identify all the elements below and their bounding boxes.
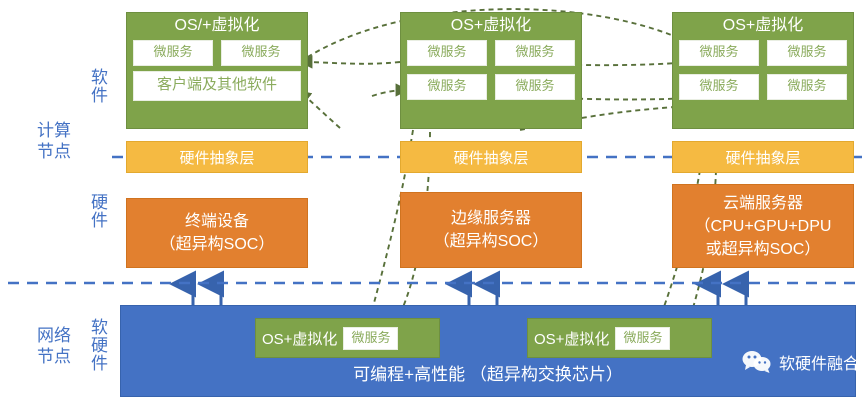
microservice-box[interactable]: 微服务 [133,40,213,66]
hardware-line: （超异构SOC） [160,233,275,256]
hardware-line: 终端设备 [185,210,249,233]
network-os-chip-1[interactable]: OS+虚拟化 微服务 [255,318,440,358]
microservice-box[interactable]: 微服务 [407,74,487,100]
hal-box-cloud[interactable]: 硬件抽象层 [672,141,854,173]
architecture-diagram: 软件 计算 节点 硬件 网络 节点 软硬件 OS/+虚拟化 微服务 微服务 客户… [0,0,865,403]
microservice-row-edge-top: 微服务 微服务 [407,40,575,66]
microservice-box[interactable]: 微服务 [495,40,575,66]
os-box-terminal[interactable]: OS/+虚拟化 微服务 微服务 客户端及其他软件 [126,12,308,129]
os-box-cloud[interactable]: OS+虚拟化 微服务 微服务 微服务 微服务 [672,12,854,129]
axis-label-network-node-line1: 网络 [14,325,94,346]
microservice-box[interactable]: 微服务 [679,74,759,100]
os-title-edge: OS+虚拟化 [407,16,575,36]
client-software-box[interactable]: 客户端及其他软件 [133,71,301,101]
microservice-box[interactable]: 微服务 [767,74,847,100]
hardware-line: （CPU+GPU+DPU [695,215,832,238]
watermark: 软硬件融合 [742,348,859,376]
axis-label-compute-node-line1: 计算 [14,120,94,141]
network-os-chip-label: OS+虚拟化 [534,328,609,349]
network-os-chip-2[interactable]: OS+虚拟化 微服务 [527,318,712,358]
wechat-icon [742,350,772,374]
hardware-box-terminal[interactable]: 终端设备 （超异构SOC） [126,198,308,268]
hardware-line: 或超异构SOC） [706,238,821,261]
microservice-box[interactable]: 微服务 [495,74,575,100]
hardware-box-edge[interactable]: 边缘服务器 （超异构SOC） [400,192,582,268]
axis-label-network-node: 网络 节点 [14,325,94,367]
network-os-chip-label: OS+虚拟化 [262,328,337,349]
hal-box-terminal[interactable]: 硬件抽象层 [126,141,308,173]
axis-label-compute-node: 计算 节点 [14,120,94,162]
microservice-box[interactable]: 微服务 [679,40,759,66]
os-title-terminal: OS/+虚拟化 [133,16,301,36]
hal-box-edge[interactable]: 硬件抽象层 [400,141,582,173]
microservice-row-edge-bottom: 微服务 微服务 [407,74,575,100]
axis-label-compute-node-line2: 节点 [14,141,94,162]
axis-label-network-node-line2: 节点 [14,346,94,367]
axis-label-soft-hardware: 软硬件 [86,318,108,372]
axis-label-hardware: 硬件 [86,193,108,229]
os-box-edge[interactable]: OS+虚拟化 微服务 微服务 微服务 微服务 [400,12,582,129]
microservice-box[interactable]: 微服务 [343,327,398,350]
os-title-cloud: OS+虚拟化 [679,16,847,36]
microservice-box[interactable]: 微服务 [221,40,301,66]
microservice-box[interactable]: 微服务 [767,40,847,66]
watermark-text: 软硬件融合 [779,350,859,374]
microservice-box[interactable]: 微服务 [407,40,487,66]
hardware-box-cloud[interactable]: 云端服务器 （CPU+GPU+DPU 或超异构SOC） [672,184,854,268]
hardware-line: （超异构SOC） [434,230,549,253]
microservice-row-cloud-top: 微服务 微服务 [679,40,847,66]
microservice-row-cloud-bottom: 微服务 微服务 [679,74,847,100]
microservice-box[interactable]: 微服务 [615,327,670,350]
hardware-line: 云端服务器 [723,192,803,215]
axis-label-software: 软件 [86,68,108,104]
hardware-line: 边缘服务器 [451,207,531,230]
microservice-row-terminal: 微服务 微服务 [133,40,301,66]
